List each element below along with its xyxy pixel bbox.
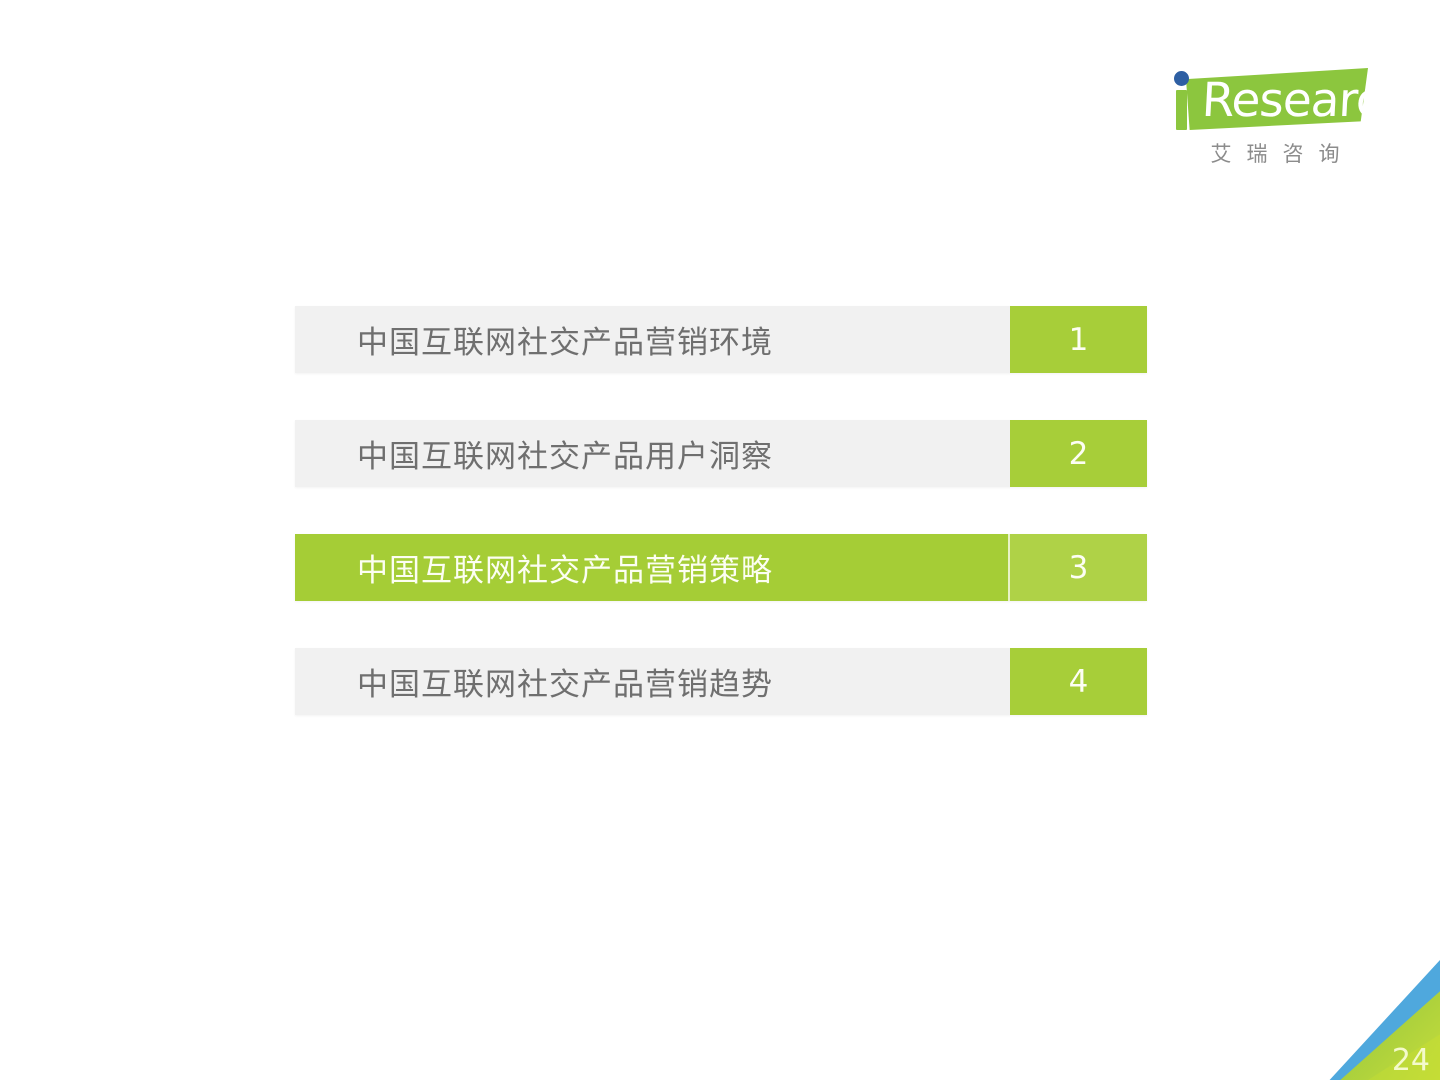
logo-letter-i-dot-icon	[1174, 71, 1189, 86]
logo-chinese-name: 艾瑞咨询	[1182, 138, 1368, 168]
page-number: 24	[1392, 1046, 1430, 1076]
logo-mark: Research	[1168, 58, 1368, 134]
agenda-item-label: 中国互联网社交产品用户洞察	[295, 420, 1010, 487]
agenda-item-number: 1	[1010, 306, 1147, 373]
agenda-row-active[interactable]: 中国互联网社交产品营销策略 3	[295, 534, 1147, 601]
agenda-list: 中国互联网社交产品营销环境 1 中国互联网社交产品用户洞察 2 中国互联网社交产…	[295, 306, 1147, 715]
agenda-item-label: 中国互联网社交产品营销趋势	[295, 648, 1010, 715]
iresearch-logo: Research 艾瑞咨询	[1168, 58, 1368, 176]
agenda-item-label: 中国互联网社交产品营销策略	[295, 534, 1010, 601]
agenda-item-label: 中国互联网社交产品营销环境	[295, 306, 1010, 373]
agenda-item-number: 3	[1010, 534, 1147, 601]
agenda-row[interactable]: 中国互联网社交产品营销趋势 4	[295, 648, 1147, 715]
logo-letter-i-stem	[1176, 90, 1187, 130]
agenda-row[interactable]: 中国互联网社交产品用户洞察 2	[295, 420, 1147, 487]
logo-wordmark: Research	[1201, 72, 1364, 128]
corner-decoration: 24	[1320, 960, 1440, 1080]
agenda-row[interactable]: 中国互联网社交产品营销环境 1	[295, 306, 1147, 373]
agenda-item-number: 2	[1010, 420, 1147, 487]
slide-canvas: Research 艾瑞咨询 中国互联网社交产品营销环境 1 中国互联网社交产品用…	[0, 0, 1440, 1080]
agenda-item-number: 4	[1010, 648, 1147, 715]
